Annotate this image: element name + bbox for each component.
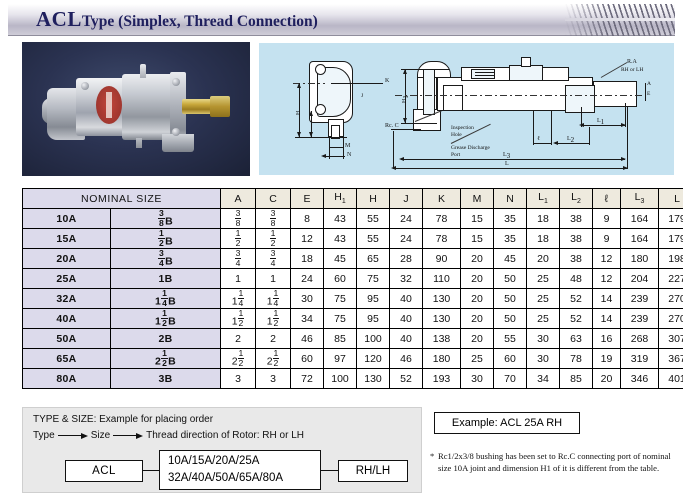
table-cell-l2: 38 [560,229,593,249]
table-cell-l2: 48 [560,269,593,289]
table-header-ell: ℓ [593,189,621,209]
drawing-label-m: M [345,143,350,150]
table-cell-a: 114 [221,289,256,309]
table-header-h1: H1 [324,189,357,209]
table-cell-l1: 25 [527,269,560,289]
table-cell-k: 180 [423,349,461,369]
table-cell-nominal-size-b: 112B [111,309,221,329]
table-header-j: J [390,189,423,209]
table-cell-l3: 164 [621,209,659,229]
drawing-n-ext-1 [329,137,330,159]
table-cell-l2: 78 [560,349,593,369]
drawing-label-inspection-hole-1: Inspection [451,125,474,131]
table-header-h: H [357,189,390,209]
table-cell-nominal-size-a: 10A [23,209,111,229]
table-cell-l: 179 [659,209,683,229]
table-cell-h1: 97 [324,349,357,369]
table-cell-l: 367 [659,349,683,369]
drawing-rotor-shaft [593,81,637,107]
table-cell-m: 20 [461,289,494,309]
table-cell-l3: 319 [621,349,659,369]
drawing-h1-ext-top [401,69,449,70]
table-cell-n: 50 [494,269,527,289]
table-cell-a: 1 [221,269,256,289]
table-cell-ls: 9 [593,209,621,229]
footnote: * Rc1/2x3/8 bushing has been set to Rc.C… [430,450,678,475]
drawing-label-h1: H1 [402,95,410,103]
drawing-spring-assembly [509,65,543,81]
order-flow-thread: Thread direction of Rotor: RH or LH [146,430,304,441]
table-cell-ls: 19 [593,349,621,369]
table-header-k: K [423,189,461,209]
table-cell-j: 40 [390,329,423,349]
table-cell-l: 270 [659,289,683,309]
photo-bolt-3 [81,82,89,90]
table-cell-c: 1 [256,269,291,289]
table-cell-n: 35 [494,209,527,229]
drawing-l-dimline [393,168,627,169]
drawing-label-grease-2: Port [451,152,460,158]
table-cell-c: 2 [256,329,291,349]
table-cell-l3: 164 [621,229,659,249]
table-cell-h: 55 [357,229,390,249]
table-body: 10A38B383884355247815351838916417915A12B… [23,209,683,389]
table-cell-l1: 34 [527,369,560,389]
drawing-hatch-1 [475,72,495,73]
table-cell-h: 95 [357,289,390,309]
drawing-endview-bolt-bottom [315,104,326,115]
drawing-l3-arrow-left [399,157,404,161]
table-cell-l3: 204 [621,269,659,289]
table-cell-k: 130 [423,309,461,329]
table-cell-h: 65 [357,249,390,269]
arrow-right-icon-1 [58,431,88,440]
table-cell-l2: 85 [560,369,593,389]
drawing-l2-arrow-left [553,141,558,145]
table-cell-n: 60 [494,349,527,369]
table-cell-e: 12 [291,229,324,249]
table-cell-e: 46 [291,329,324,349]
table-cell-a: 212 [221,349,256,369]
table-cell-c: 114 [256,289,291,309]
table-cell-nominal-size-a: 15A [23,229,111,249]
table-cell-l2: 63 [560,329,593,349]
table-cell-h: 130 [357,369,390,389]
page-title-model: ACL [36,7,82,31]
table-cell-nominal-size-a: 40A [23,309,111,329]
footnote-star: * [430,450,434,462]
drawing-k-leader [331,83,383,84]
table-cell-l2: 52 [560,309,593,329]
table-cell-l1: 30 [527,349,560,369]
table-cell-h1: 60 [324,269,357,289]
table-cell-n: 45 [494,249,527,269]
photo-bolt-1 [172,78,180,86]
table-cell-l3: 239 [621,309,659,329]
drawing-label-l3: L3 [503,152,510,160]
drawing-h-arrow-up [297,83,301,88]
table-cell-k: 138 [423,329,461,349]
table-cell-ls: 12 [593,269,621,289]
table-cell-nominal-size-a: 50A [23,329,111,349]
table-cell-k: 193 [423,369,461,389]
table-cell-c: 34 [256,249,291,269]
table-cell-l2: 52 [560,289,593,309]
product-photo [22,42,250,176]
table-cell-h: 75 [357,269,390,289]
table-cell-m: 15 [461,229,494,249]
table-cell-nominal-size-a: 80A [23,369,111,389]
table-cell-l: 179 [659,229,683,249]
table-cell-k: 130 [423,289,461,309]
drawing-ell-ext-1 [533,111,534,145]
table-cell-e: 60 [291,349,324,369]
table-cell-ls: 12 [593,249,621,269]
table-cell-nominal-size-a: 32A [23,289,111,309]
table-cell-nominal-size-b: 114B [111,289,221,309]
table-cell-c: 38 [256,209,291,229]
drawing-l3-dimline [401,159,625,160]
drawing-hatch-2 [475,75,495,76]
table-cell-a: 2 [221,329,256,349]
table-cell-l3: 180 [621,249,659,269]
example-box: Example: ACL 25A RH [434,412,580,434]
table-cell-k: 90 [423,249,461,269]
table-row: 32A114B114114307595401302050255214239270 [23,289,683,309]
table-cell-k: 78 [423,229,461,249]
drawing-l1-ext-1 [581,107,582,127]
drawing-label-n: N [347,152,351,159]
table-cell-e: 34 [291,309,324,329]
table-cell-l3: 239 [621,289,659,309]
table-cell-j: 32 [390,269,423,289]
table-cell-nominal-size-b: 3B [111,369,221,389]
table-cell-c: 3 [256,369,291,389]
drawing-inlet-chamber [443,85,463,111]
table-cell-nominal-size-a: 65A [23,349,111,369]
order-box-type: ACL [65,460,143,482]
table-cell-l: 307 [659,329,683,349]
table-cell-m: 20 [461,269,494,289]
table-header-l: L [659,189,683,209]
order-box-sizes: 10A/15A/20A/25A 32A/40A/50A/65A/80A [159,450,321,490]
drawing-l1-ext-2 [625,103,626,127]
table-cell-h: 95 [357,309,390,329]
table-cell-ls: 20 [593,369,621,389]
page-title-subtitle: Type (Simplex, Thread Connection) [82,13,318,30]
table-cell-nominal-size-b: 38B [111,209,221,229]
table-cell-ls: 14 [593,289,621,309]
order-connector-1 [143,470,159,471]
table-cell-h: 120 [357,349,390,369]
photo-label-mark [106,92,112,118]
table-row: 40A112B112112347595401302050255214239270 [23,309,683,329]
photo-brass-hex [210,96,230,117]
table-cell-h: 55 [357,209,390,229]
table-header-n: N [494,189,527,209]
drawing-top-fitting [521,57,531,67]
specification-table-container: NOMINAL SIZE A C E H1 H J K M N L1 L2 ℓ … [22,188,675,389]
table-cell-ls: 16 [593,329,621,349]
drawing-m-dimline [329,147,343,148]
table-cell-nominal-size-b: 1B [111,269,221,289]
table-row: 15A12B12121243552478153518389164179 [23,229,683,249]
table-row: 10A38B3838843552478153518389164179 [23,209,683,229]
table-row: 80A3B3372100130521933070348520346401 [23,369,683,389]
drawing-ell-dimline [533,143,551,144]
drawing-l2-ext [589,127,590,145]
drawing-endview-bolt-top [315,64,326,75]
drawing-base-line [295,137,347,138]
table-cell-l: 270 [659,309,683,329]
table-cell-l1: 18 [527,229,560,249]
hatch-divider [565,18,675,21]
table-header-nominal-size: NOMINAL SIZE [23,189,221,209]
drawing-label-ra: R.A [627,59,637,66]
table-cell-l1: 20 [527,249,560,269]
table-row: 25A1B11246075321102050254812204227 [23,269,683,289]
table-cell-n: 50 [494,289,527,309]
order-example-panel: TYPE & SIZE: Example for placing order T… [22,407,422,493]
drawing-n-ext-2 [343,137,344,159]
drawing-label-rcc: Rc. C [385,123,399,130]
table-cell-j: 52 [390,369,423,389]
page-title: ACLType (Simplex, Thread Connection) [36,7,318,32]
datasheet-page: ACLType (Simplex, Thread Connection) [0,0,683,501]
table-cell-l1: 18 [527,209,560,229]
drawing-l3-arrow-right [621,157,626,161]
drawing-n-arrow-up [309,111,313,116]
specification-table: NOMINAL SIZE A C E H1 H J K M N L1 L2 ℓ … [22,188,683,389]
table-cell-c: 12 [256,229,291,249]
table-cell-j: 24 [390,229,423,249]
table-header-e: E [291,189,324,209]
table-header-row: NOMINAL SIZE A C E H1 H J K M N L1 L2 ℓ … [23,189,683,209]
table-cell-a: 112 [221,309,256,329]
drawing-label-grease-1: Grease Discharge [451,145,490,151]
table-cell-j: 40 [390,309,423,329]
table-cell-c: 112 [256,309,291,329]
table-row: 50A2B224685100401382055306316268307 [23,329,683,349]
order-heading: TYPE & SIZE: Example for placing order [33,414,213,425]
photo-top-nipple [140,64,146,78]
table-cell-h1: 100 [324,369,357,389]
drawing-label-ra-sub: RH or LH [621,67,643,73]
table-cell-l1: 30 [527,329,560,349]
table-header-m: M [461,189,494,209]
table-cell-n: 70 [494,369,527,389]
table-cell-nominal-size-b: 34B [111,249,221,269]
table-cell-j: 46 [390,349,423,369]
table-cell-e: 18 [291,249,324,269]
table-cell-l: 227 [659,269,683,289]
table-cell-l1: 25 [527,309,560,329]
table-cell-k: 110 [423,269,461,289]
table-cell-l2: 38 [560,249,593,269]
table-cell-l3: 268 [621,329,659,349]
drawing-label-e: E [647,91,650,97]
table-cell-a: 38 [221,209,256,229]
arrow-right-icon-2 [113,431,143,440]
drawing-label-l1: L1 [597,118,604,126]
photo-mounting-foot [162,134,194,152]
technical-drawing: K H M N [258,42,675,176]
table-header-l3: L3 [621,189,659,209]
photo-bolt-2 [172,128,180,136]
table-cell-e: 72 [291,369,324,389]
table-cell-j: 28 [390,249,423,269]
table-cell-k: 78 [423,209,461,229]
order-sizes-line2: 32A/40A/50A/65A/80A [168,470,283,487]
table-cell-ls: 14 [593,309,621,329]
drawing-label-l2: L2 [567,136,574,144]
table-cell-a: 34 [221,249,256,269]
table-cell-m: 20 [461,329,494,349]
drawing-elbow-bore [423,69,435,115]
table-cell-l: 198 [659,249,683,269]
table-cell-h1: 85 [324,329,357,349]
table-row: 65A212B212212609712046180256030781931936… [23,349,683,369]
drawing-label-a: A [647,81,651,87]
drawing-l-ext-left [393,131,394,169]
table-cell-h1: 45 [324,249,357,269]
drawing-a-dimline [645,83,646,101]
table-cell-e: 8 [291,209,324,229]
table-header-a: A [221,189,256,209]
order-flow: Type Size Thread direction of Rotor: RH … [33,430,304,441]
order-box-direction: RH/LH [338,460,408,482]
table-cell-h1: 43 [324,229,357,249]
table-header-c: C [256,189,291,209]
table-cell-e: 30 [291,289,324,309]
drawing-label-h: H [296,111,303,115]
footnote-text: Rc1/2x3/8 bushing has been set to Rc.C c… [430,450,678,475]
drawing-label-k: K [385,78,389,85]
table-cell-l2: 38 [560,209,593,229]
table-cell-m: 25 [461,349,494,369]
drawing-h1-ext-bottom [401,123,437,124]
table-cell-c: 212 [256,349,291,369]
drawing-n-arrow-left [321,154,326,158]
table-cell-h1: 43 [324,209,357,229]
photo-bottom-nipple [136,138,142,148]
drawing-rotor-neck [565,85,595,113]
drawing-label-ell: ℓ [537,136,540,143]
drawing-label-l: L [505,161,509,168]
table-row: 20A34B343418456528902045203812180198 [23,249,683,269]
table-cell-m: 30 [461,369,494,389]
table-cell-j: 24 [390,209,423,229]
page-header: ACLType (Simplex, Thread Connection) [8,4,675,36]
table-cell-n: 55 [494,329,527,349]
drawing-n-dimline-bottom [323,156,345,157]
table-cell-l: 401 [659,369,683,389]
table-cell-l1: 25 [527,289,560,309]
table-cell-nominal-size-b: 2B [111,329,221,349]
table-cell-a: 12 [221,229,256,249]
table-cell-l3: 346 [621,369,659,389]
table-cell-h1: 75 [324,289,357,309]
table-cell-nominal-size-b: 212B [111,349,221,369]
table-cell-m: 20 [461,249,494,269]
table-cell-h: 100 [357,329,390,349]
table-cell-a: 3 [221,369,256,389]
table-header-l1: L1 [527,189,560,209]
drawing-label-j: J [361,93,363,99]
order-flow-type: Type [33,430,55,441]
table-cell-h1: 75 [324,309,357,329]
order-connector-2 [321,470,338,471]
table-cell-nominal-size-b: 12B [111,229,221,249]
order-sizes-line1: 10A/15A/20A/25A [168,453,259,470]
table-cell-m: 15 [461,209,494,229]
drawing-seal-pack [471,69,495,79]
table-cell-n: 35 [494,229,527,249]
order-flow-size: Size [91,430,110,441]
drawing-ell-ext-2 [551,111,552,145]
drawing-main-centerline [395,95,645,96]
table-cell-e: 24 [291,269,324,289]
table-cell-nominal-size-a: 25A [23,269,111,289]
table-cell-n: 50 [494,309,527,329]
table-cell-nominal-size-a: 20A [23,249,111,269]
table-cell-m: 20 [461,309,494,329]
table-header-l2: L2 [560,189,593,209]
table-cell-ls: 9 [593,229,621,249]
drawing-l-ext-right [627,107,628,169]
table-cell-j: 40 [390,289,423,309]
